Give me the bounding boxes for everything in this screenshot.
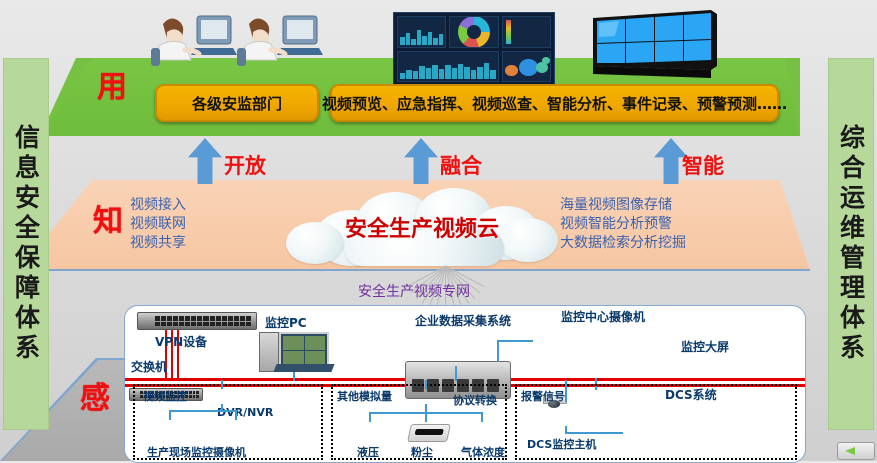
arrow-up-fusion-icon [404,138,438,184]
dust-sensor-icon [407,424,451,442]
analog-drop-1 [369,412,371,422]
dvr-downlink-h [169,410,237,412]
arrow-label-fusion: 融合 [440,150,482,180]
dvr-downlink-l [169,410,171,420]
dust-label: 粉尘 [411,444,433,460]
layer-letter-gan: 感 [80,373,110,417]
dvr-downlink-c [221,404,223,412]
corner-chip-icon[interactable] [837,442,875,460]
cloud-left-item-2: 视频联网 [130,215,186,234]
video-surveillance-title: 视频监控 [143,388,187,404]
architecture-diagram: 信息安全保障体系 综合运维管理体系 用 知 感 [0,0,877,461]
pc-uplink [293,372,295,381]
video-wall-illustration [585,8,725,82]
dashboard-area-cell [397,51,499,83]
protocol-converter-label: 协议转换 [453,392,497,408]
dvr-nvr-label: DVR/NVR [217,406,273,419]
server-uplink [455,366,457,381]
dvr-uplink [221,380,223,389]
dashboard-table-cell [397,16,446,48]
layer-letter-zhi: 知 [93,196,123,240]
orange-box-safety-departments[interactable]: 各级安监部门 [155,84,319,122]
cloud-left-item-1: 视频接入 [130,196,186,215]
cloud-left-item-3: 视频共享 [130,234,186,253]
field-camera-label: 生产现场监控摄像机 [147,444,246,460]
sensing-layer-panel: VPN设备 交换机 监控PC 企业数据采集系统 监控中心摄像机 [124,305,806,463]
donut-chart [458,16,490,48]
cloud-right-item-2: 视频智能分析预警 [560,215,686,234]
arrow-label-open: 开放 [224,150,266,180]
arrow-label-intelligent: 智能 [682,150,724,180]
vpn-device-label: VPN设备 [155,333,207,350]
dashboard-heat-cell [502,16,551,48]
converter-uplink [425,380,427,389]
cloud-right-items: 海量视频图像存储 视频智能分析预警 大数据检索分析挖掘 [560,196,686,253]
cloud-right-item-1: 海量视频图像存储 [560,196,686,215]
left-side-panel: 信息安全保障体系 [3,58,49,430]
camera-link-v [497,340,499,362]
color-legend-bar [506,20,511,44]
monitor-pc-label: 监控PC [265,314,307,331]
dashboard-bubble-cell [502,51,551,83]
cloud-label: 安全生产视频云 [286,188,558,266]
dcs-host-label: DCS监控主机 [527,436,596,452]
pc-monitor-icon [279,332,329,368]
network-label: 安全生产视频专网 [358,281,470,301]
analog-signal-title: 其他模拟量 [337,388,392,404]
alarm-signal-title: 报警信号 [521,388,565,404]
arrow-up-open-icon [188,138,222,184]
cloud-right-item-3: 大数据检索分析挖掘 [560,234,686,253]
vpn-device-icon [137,312,257,330]
left-side-panel-label: 信息安全保障体系 [14,124,39,364]
camera-link-h [497,340,533,342]
monitor-large-screen-label: 监控大屏 [681,338,729,355]
dcs-host-uplink [565,380,567,402]
bi-dashboard-illustration [393,12,555,86]
right-side-panel: 综合运维管理体系 [828,58,874,430]
orange-box-functions[interactable]: 视频预览、应急指挥、视频巡查、智能分析、事件记录、预警预测…… [330,84,779,122]
dvr-downlink-r [235,410,237,420]
control-center-camera-label: 监控中心摄像机 [561,308,645,325]
enterprise-data-collection-label: 企业数据采集系统 [415,312,511,329]
hydraulic-label: 液压 [357,444,379,460]
dashboard-donut-cell [449,16,498,48]
dcs-system-label: DCS系统 [665,386,717,403]
switch-label: 交换机 [131,358,167,375]
cloud-left-items: 视频接入 视频联网 视频共享 [130,196,186,253]
gas-concentration-label: 气体浓度 [461,444,505,460]
keyboard-icon [273,364,334,372]
dcs-host-to-system [565,432,623,434]
right-side-panel-label: 综合运维管理体系 [839,124,864,364]
analog-drop-3 [481,412,483,422]
analog-drop-2 [425,412,427,422]
operators-at-computers-illustration [145,6,325,68]
layer-letter-yong: 用 [97,62,127,106]
